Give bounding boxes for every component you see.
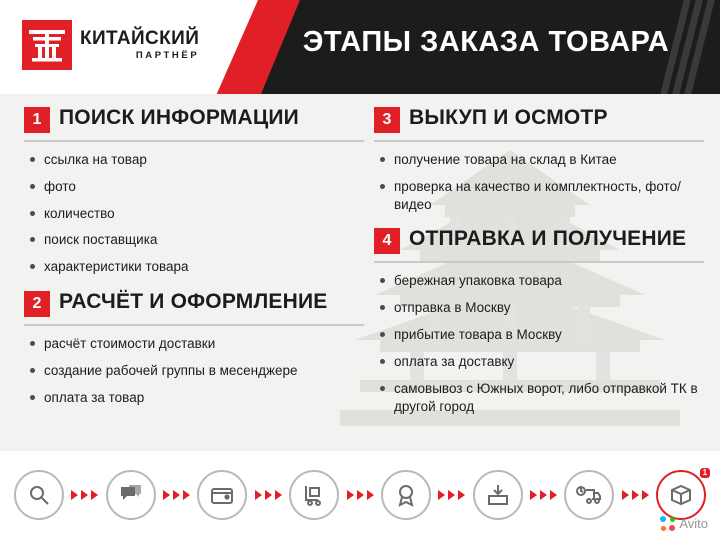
step-1-title: ПОИСК ИНФОРМАЦИИ [59,106,299,129]
gate-logo-icon [22,20,72,70]
brand-logo: КИТАЙСКИЙ ПАРТНЁР [22,20,199,70]
arrow-separator [431,490,473,500]
arrow-separator [614,490,656,500]
step-2-title: РАСЧЁТ И ОФОРМЛЕНИЕ [59,290,327,313]
list-item: создание рабочей группы в месенджере [44,362,364,380]
step-4-heading: 4 ОТПРАВКА И ПОЛУЧЕНИЕ [374,227,704,254]
list-item: расчёт стоимости доставки [44,335,364,353]
right-column: 3 ВЫКУП И ОСМОТР получение товара на скл… [374,106,704,425]
step-4-number: 4 [374,228,400,254]
step-3-divider [374,140,704,142]
list-item: оплата за доставку [394,353,704,371]
step-block-1: 1 ПОИСК ИНФОРМАЦИИ ссылка на товар фото … [24,106,364,276]
logo-name-line2: ПАРТНЁР [80,51,199,61]
list-item: самовывоз с Южных ворот, либо отправкой … [394,380,704,416]
arrow-separator [64,490,106,500]
footer-step-strip: 1 Avito [0,451,720,539]
poster-header: КИТАЙСКИЙ ПАРТНЁР ЭТАПЫ ЗАКАЗА ТОВАРА [0,0,720,94]
step-block-4: 4 ОТПРАВКА И ПОЛУЧЕНИЕ бережная упаковка… [374,227,704,415]
list-item: фото [44,178,364,196]
hand-truck-icon [289,470,339,520]
left-column: 1 ПОИСК ИНФОРМАЦИИ ссылка на товар фото … [24,106,364,417]
step-4-divider [374,261,704,263]
step-2-list: расчёт стоимости доставки создание рабоч… [24,335,364,406]
step-3-title: ВЫКУП И ОСМОТР [409,106,608,129]
step-1-number: 1 [24,107,50,133]
arrow-separator [247,490,289,500]
delivery-truck-icon [564,470,614,520]
step-2-number: 2 [24,291,50,317]
arrow-separator [156,490,198,500]
step-3-heading: 3 ВЫКУП И ОСМОТР [374,106,704,133]
avito-label: Avito [679,516,708,531]
magnifier-icon [14,470,64,520]
step-3-list: получение товара на склад в Китае провер… [374,151,704,213]
step-1-divider [24,140,364,142]
wallet-icon [197,470,247,520]
step-block-2: 2 РАСЧЁТ И ОФОРМЛЕНИЕ расчёт стоимости д… [24,290,364,406]
step-2-heading: 2 РАСЧЁТ И ОФОРМЛЕНИЕ [24,290,364,317]
step-1-list: ссылка на товар фото количество поиск по… [24,151,364,276]
list-item: отправка в Москву [394,299,704,317]
parcel-check-icon: 1 [656,470,706,520]
quality-seal-icon [381,470,431,520]
list-item: ссылка на товар [44,151,364,169]
step-2-divider [24,324,364,326]
logo-name-line1: КИТАЙСКИЙ [80,29,199,48]
list-item: прибытие товара в Москву [394,326,704,344]
box-download-icon [473,470,523,520]
poster-title: ЭТАПЫ ЗАКАЗА ТОВАРА [262,26,710,59]
step-4-title: ОТПРАВКА И ПОЛУЧЕНИЕ [409,227,686,250]
avito-logo-icon [660,516,675,531]
step-1-heading: 1 ПОИСК ИНФОРМАЦИИ [24,106,364,133]
list-item: поиск поставщика [44,231,364,249]
step-4-list: бережная упаковка товара отправка в Моск… [374,272,704,415]
list-item: получение товара на склад в Китае [394,151,704,169]
list-item: проверка на качество и комплектность, фо… [394,178,704,214]
step-badge: 1 [700,468,710,478]
poster-root: КИТАЙСКИЙ ПАРТНЁР ЭТАПЫ ЗАКАЗА ТОВАРА 1 … [0,0,720,539]
avito-watermark: Avito [660,516,708,531]
list-item: оплата за товар [44,389,364,407]
arrow-separator [523,490,565,500]
list-item: бережная упаковка товара [394,272,704,290]
arrow-separator [339,490,381,500]
list-item: характеристики товара [44,258,364,276]
step-block-3: 3 ВЫКУП И ОСМОТР получение товара на скл… [374,106,704,213]
list-item: количество [44,205,364,223]
step-3-number: 3 [374,107,400,133]
chat-icon [106,470,156,520]
